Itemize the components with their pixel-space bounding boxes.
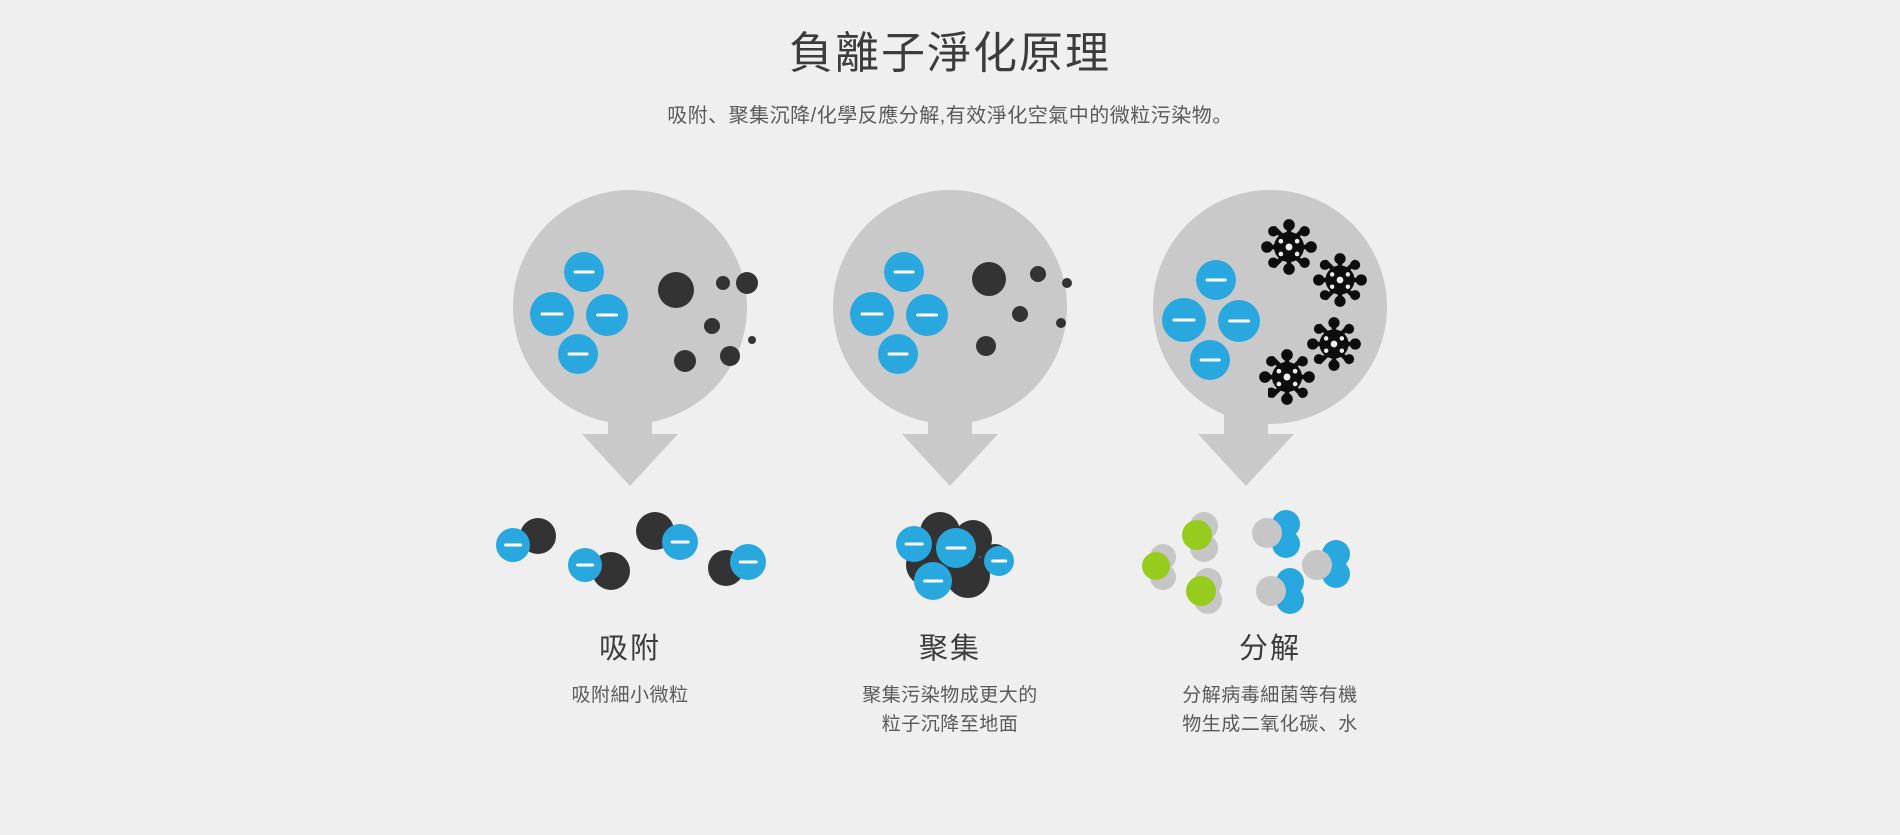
caption-adsorption: 吸附 吸附細小微粒 <box>571 632 688 710</box>
down-arrow-icon <box>580 386 680 486</box>
water-molecule-icon <box>1302 550 1332 580</box>
negative-ion-icon <box>558 334 598 374</box>
pollutant-particle-icon <box>976 336 996 356</box>
principle-column-decomposition: 分解 分解病毒細菌等有機 物生成二氧化碳、水 <box>1120 190 1420 740</box>
negative-ion-icon <box>906 294 948 336</box>
caption-desc-line: 分解病毒細菌等有機 <box>1182 681 1358 710</box>
water-molecule-icon <box>1252 518 1282 548</box>
negative-ion-icon <box>530 292 574 336</box>
illustration-aggregation <box>800 190 1100 500</box>
pollutant-particle-icon <box>748 336 756 344</box>
virus-icon <box>1312 252 1368 308</box>
negative-ion-icon <box>1190 340 1230 380</box>
negative-ion-icon <box>662 524 698 560</box>
negative-ion-icon <box>884 252 924 292</box>
caption-title: 分解 <box>1182 632 1358 667</box>
page-subtitle: 吸附、聚集沉降/化學反應分解,有效淨化空氣中的微粒污染物。 <box>0 103 1900 129</box>
negative-ion-icon <box>496 528 530 562</box>
page-title: 負離子淨化原理 <box>0 28 1900 81</box>
caption-desc-line: 粒子沉降至地面 <box>862 710 1038 739</box>
result-decomposition <box>1120 506 1420 616</box>
illustration-adsorption <box>480 190 780 500</box>
negative-ion-icon <box>850 292 894 336</box>
caption-desc-line: 物生成二氧化碳、水 <box>1182 710 1358 739</box>
pollutant-particle-icon <box>704 318 720 334</box>
header: 負離子淨化原理 吸附、聚集沉降/化學反應分解,有效淨化空氣中的微粒污染物。 <box>0 0 1900 129</box>
negative-ion-icon <box>730 544 766 580</box>
carbon-dioxide-molecule-icon <box>1182 520 1212 550</box>
negative-ion-icon <box>1162 298 1206 342</box>
caption-title: 聚集 <box>862 632 1038 667</box>
negative-ion-icon <box>878 334 918 374</box>
down-arrow-icon <box>1196 386 1296 486</box>
illustration-decomposition <box>1120 190 1420 500</box>
infographic-page: 負離子淨化原理 吸附、聚集沉降/化學反應分解,有效淨化空氣中的微粒污染物。 <box>0 0 1900 835</box>
pollutant-particle-icon <box>972 262 1006 296</box>
negative-ion-icon <box>564 252 604 292</box>
result-adsorption <box>480 506 780 616</box>
pollutant-particle-icon <box>1056 318 1066 328</box>
carbon-dioxide-molecule-icon <box>1142 552 1170 580</box>
pollutant-particle-icon <box>736 272 758 294</box>
negative-ion-icon <box>1218 300 1260 342</box>
pollutant-particle-icon <box>1062 278 1072 288</box>
negative-ion-icon <box>896 526 932 562</box>
result-aggregation <box>800 506 1100 616</box>
pollutant-particle-icon <box>1012 306 1028 322</box>
principle-columns: 吸附 吸附細小微粒 <box>0 190 1900 740</box>
negative-ion-icon <box>1196 260 1236 300</box>
down-arrow-icon <box>900 386 1000 486</box>
negative-ion-icon <box>568 548 602 582</box>
negative-ion-icon <box>586 294 628 336</box>
pollutant-particle-icon <box>716 276 730 290</box>
caption-aggregation: 聚集 聚集污染物成更大的 粒子沉降至地面 <box>862 632 1038 740</box>
negative-ion-icon <box>984 546 1014 576</box>
pollutant-particle-icon <box>1030 266 1046 282</box>
water-molecule-icon <box>1256 576 1286 606</box>
principle-column-aggregation: 聚集 聚集污染物成更大的 粒子沉降至地面 <box>800 190 1100 740</box>
caption-desc-line: 聚集污染物成更大的 <box>862 681 1038 710</box>
principle-column-adsorption: 吸附 吸附細小微粒 <box>480 190 780 710</box>
caption-desc: 聚集污染物成更大的 粒子沉降至地面 <box>862 681 1038 740</box>
negative-ion-icon <box>914 562 952 600</box>
caption-desc-line: 吸附細小微粒 <box>571 681 688 710</box>
caption-title: 吸附 <box>571 632 688 667</box>
carbon-dioxide-molecule-icon <box>1186 576 1216 606</box>
virus-icon <box>1260 218 1318 276</box>
pollutant-particle-icon <box>720 346 740 366</box>
caption-decomposition: 分解 分解病毒細菌等有機 物生成二氧化碳、水 <box>1182 632 1358 740</box>
caption-desc: 分解病毒細菌等有機 物生成二氧化碳、水 <box>1182 681 1358 740</box>
pollutant-particle-icon <box>674 350 696 372</box>
pollutant-particle-icon <box>658 272 694 308</box>
negative-ion-icon <box>936 528 976 568</box>
caption-desc: 吸附細小微粒 <box>571 681 688 710</box>
